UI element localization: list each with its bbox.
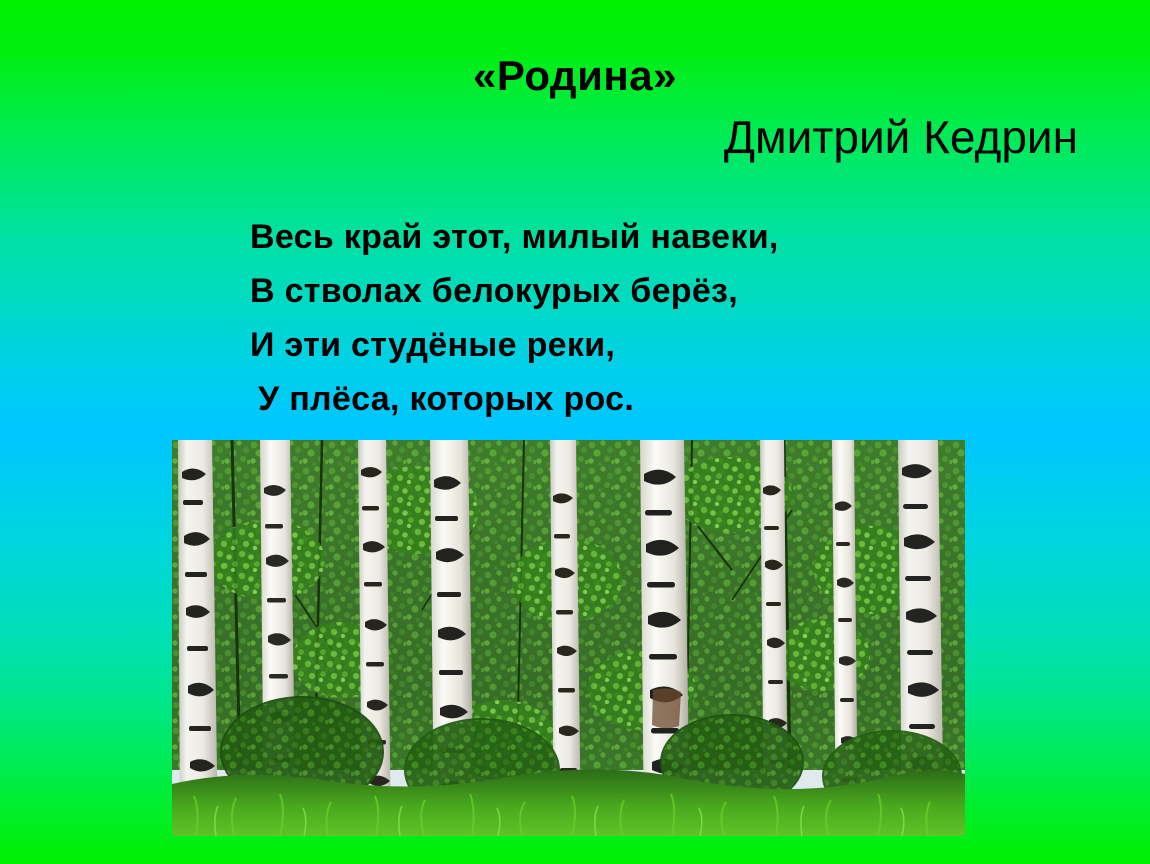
poem-line: Весь край этот, милый навеки, <box>250 210 910 264</box>
author-name: Дмитрий Кедрин <box>0 110 1078 164</box>
poem-line: В стволах белокурых берёз, <box>250 264 910 318</box>
poem-block: Весь край этот, милый навеки, В стволах … <box>250 210 910 426</box>
poem-line: У плёса, которых рос. <box>250 372 910 426</box>
poem-line: И эти студёные реки, <box>250 318 910 372</box>
page-title: «Родина» <box>0 52 1150 100</box>
presentation-slide: «Родина» Дмитрий Кедрин Весь край этот, … <box>0 0 1150 864</box>
birch-grove-photo <box>172 440 965 836</box>
birch-grove-illustration <box>172 440 965 836</box>
